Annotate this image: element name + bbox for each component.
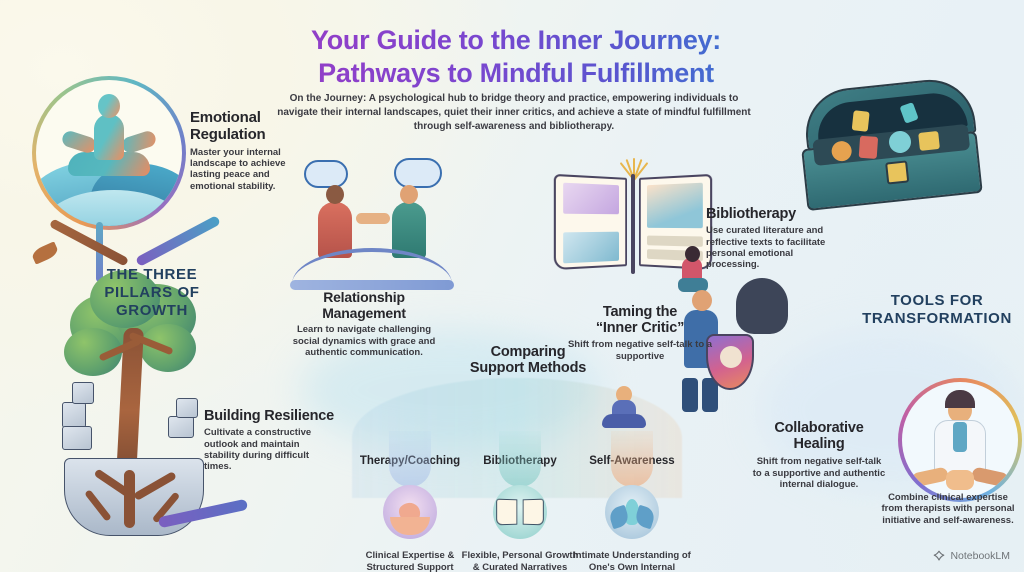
bibliotherapy-desc: Use curated literature and reflective te… [706,225,834,271]
relationship-management-desc: Learn to navigate challenging social dyn… [288,324,440,358]
emotional-regulation-title: Emotional Regulation [190,110,302,144]
lotus-meditation-icon [598,473,666,547]
hands-holding-heart-icon [376,473,444,547]
comparison-heading: Comparing Support Methods [448,344,608,376]
tools-heading: TOOLS FOR TRANSFORMATION [862,292,1012,328]
comparison-column-bibliotherapy: Bibliotherapy Flexible, Personal Growth … [460,455,580,572]
comparison-desc-2: Intimate Understanding of One's Own Inte… [572,550,692,572]
comparison-column-self-awareness: Self-Awareness Intimate Understanding of… [572,455,692,572]
inner-critic-title-line-2: “Inner Critic” [566,320,714,336]
collaborative-healing-title: Collaborative Healing [752,420,886,452]
collaborative-healing-desc: Shift from negative self-talk to a suppo… [752,456,886,490]
page-subtitle: On the Journey: A psychological hub to b… [276,92,752,135]
section-building-resilience: Building Resilience Cultivate a construc… [204,408,336,473]
comparison-desc-1: Flexible, Personal Growth & Curated Narr… [460,550,580,572]
title-line-1: Your Guide to the Inner Journey: [236,24,796,57]
title-line-2: Pathways to Mindful Fulfillment [236,57,796,90]
pillars-heading: THE THREE PILLARS OF GROWTH [74,266,230,320]
two-people-handshake-on-bridge-icon [286,158,458,284]
page-title: Your Guide to the Inner Journey: Pathway… [236,24,796,90]
open-treasure-chest-icon [790,78,996,224]
inner-critic-title-line-1: Taming the [566,304,714,320]
notebooklm-logo-icon [933,550,945,562]
section-relationship-management: Relationship Management Learn to navigat… [288,290,440,359]
seated-meditator-icon [596,382,652,430]
watermark: NotebookLM [933,550,1010,562]
comparison-heading-line-1: Comparing [448,344,608,360]
section-collaborative-healing: Collaborative Healing Shift from negativ… [752,420,886,491]
building-resilience-desc: Cultivate a constructive outlook and mai… [204,427,336,473]
infographic-poster: Your Guide to the Inner Journey: Pathway… [0,0,1024,572]
open-book-icon [486,473,554,547]
building-resilience-title: Building Resilience [204,408,336,424]
meditating-figure-in-waves-icon [32,76,186,230]
comparison-column-therapy: Therapy/Coaching Clinical Expertise & St… [350,455,470,572]
watermark-label: NotebookLM [950,550,1010,562]
open-book-with-reader-icon [548,158,718,294]
comparison-heading-line-2: Support Methods [448,360,608,376]
clinical-combination-desc: Combine clinical expertise from therapis… [878,492,1018,526]
comparison-desc-0: Clinical Expertise & Structured Support [350,550,470,572]
relationship-management-title: Relationship Management [288,290,440,321]
therapist-handshake-circle-icon [898,378,1022,502]
